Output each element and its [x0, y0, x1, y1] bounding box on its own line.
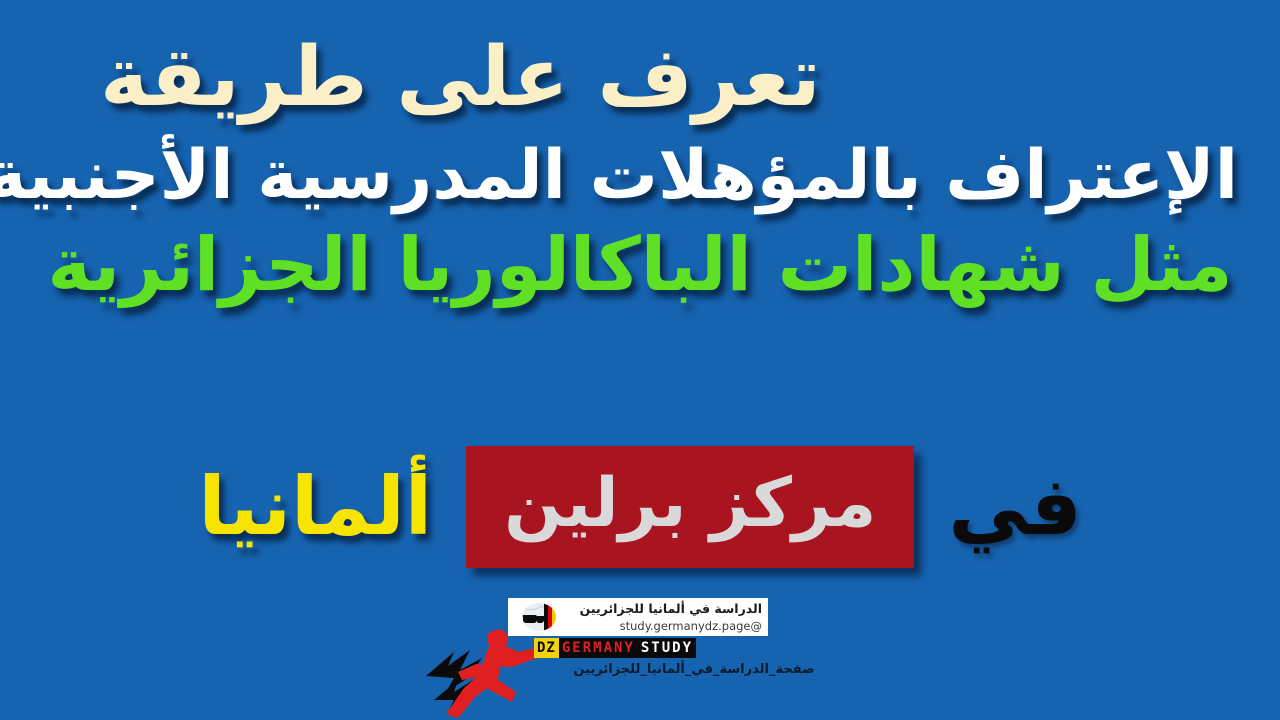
footer-hashtag: صفحة_الدراسة_في_ألمانيا_للجزائريين [554, 662, 834, 677]
wordmark-germany: GERMANY [559, 638, 638, 658]
running-man-lightning-icon [424, 622, 554, 718]
page-handle-card[interactable]: الدراسة في ألمانيا للجزائريين @study.ger… [508, 598, 768, 636]
page-handle-texts: الدراسة في ألمانيا للجزائريين @study.ger… [556, 600, 762, 634]
headline-line-1: تعرف على طريقة [42, 34, 1238, 123]
preposition-fi: في [948, 467, 1081, 547]
headline-block: تعرف على طريقة الإعتراف بالمؤهلات المدرس… [0, 0, 1280, 306]
headline-line-4: في مركز برلين ألمانيا [0, 446, 1280, 568]
berlin-center-badge: مركز برلين [466, 446, 914, 568]
headline-line-3: مثل شهادات الباكالوريا الجزائرية [42, 226, 1238, 306]
page-username: @study.germanydz.page [620, 619, 762, 633]
poster-canvas: تعرف على طريقة الإعتراف بالمؤهلات المدرس… [0, 0, 1280, 720]
study-germany-dz-wordmark: STUDY GERMANY DZ [534, 638, 696, 658]
page-avatar [522, 603, 556, 631]
wordmark-study: STUDY [638, 638, 696, 658]
footer-brand-cluster: الدراسة في ألمانيا للجزائريين @study.ger… [424, 596, 844, 720]
headline-line-2: الإعتراف بالمؤهلات المدرسية الأجنبية [42, 139, 1238, 212]
country-germany: ألمانيا [198, 467, 432, 547]
wordmark-dz: DZ [534, 638, 559, 658]
page-name: الدراسة في ألمانيا للجزائريين [580, 601, 762, 616]
